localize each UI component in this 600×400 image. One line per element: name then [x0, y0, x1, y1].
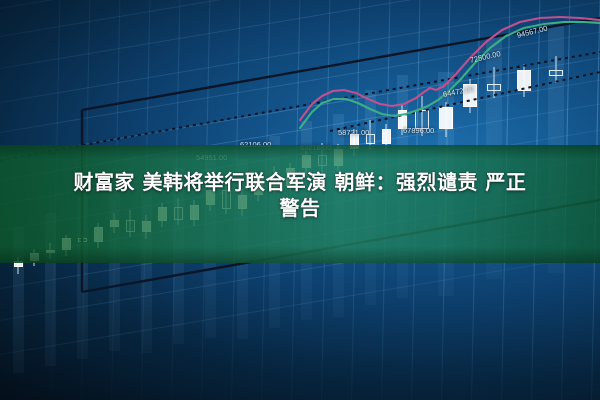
price-label: 94567.00 [516, 24, 549, 40]
price-label: 72500.00 [469, 49, 502, 65]
headline-overlay: 财富家 美韩将举行联合军演 朝鲜：强烈谴责 严正 警告 [0, 169, 600, 221]
price-label: 64472.00 [442, 84, 474, 99]
price-label: 58721.00 [338, 128, 369, 137]
price-label: 67896.00 [403, 126, 434, 135]
headline-line-2: 警告 [0, 195, 600, 221]
headline-line-1: 财富家 美韩将举行联合军演 朝鲜：强烈谴责 严正 [0, 169, 600, 195]
stock-chart-image: 94567.0072500.0064472.0067896.0058721.00… [0, 0, 600, 400]
